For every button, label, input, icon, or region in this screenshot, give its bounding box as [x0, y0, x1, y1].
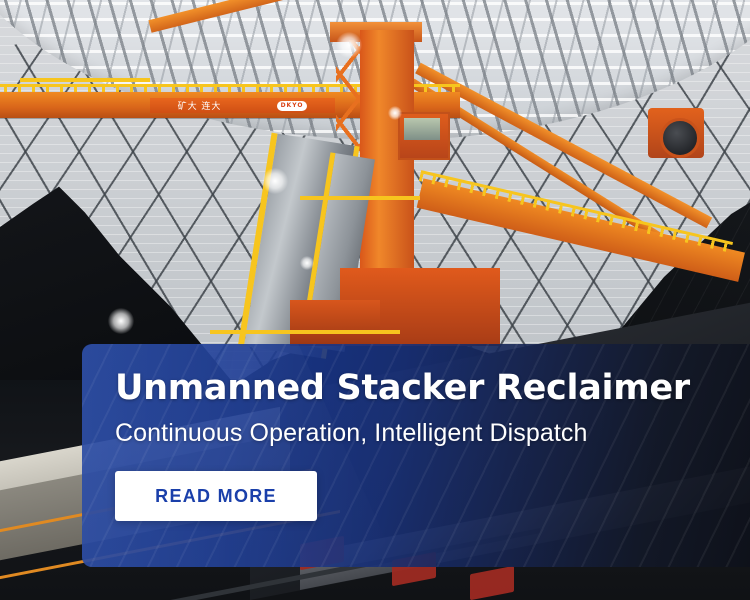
bucket-wheel [660, 118, 700, 158]
boom-marking: 矿大 连大 DKYO [150, 98, 335, 113]
overlay-panel: Unmanned Stacker Reclaimer Continuous Op… [82, 344, 750, 567]
operator-cab-window [404, 118, 440, 140]
work-light-4 [388, 106, 402, 120]
read-more-button[interactable]: READ MORE [115, 471, 317, 521]
platform-railing-3 [210, 330, 400, 334]
banner-subtitle: Continuous Operation, Intelligent Dispat… [115, 410, 750, 449]
overlay-content: Unmanned Stacker Reclaimer Continuous Op… [82, 344, 750, 521]
work-light-5 [300, 256, 314, 270]
work-light-1 [336, 32, 362, 58]
banner-title: Unmanned Stacker Reclaimer [115, 344, 750, 410]
platform-railing-2 [300, 196, 420, 200]
platform-railing-1 [20, 78, 150, 82]
work-light-2 [262, 168, 288, 194]
hero-banner: 矿大 连大 DKYO Unmanned Stacker Reclaimer C [0, 0, 750, 600]
machine-base-secondary [290, 300, 380, 346]
work-light-3 [108, 308, 134, 334]
rail-car-3 [470, 566, 514, 600]
boom-marking-text: 矿大 连大 [178, 99, 222, 112]
boom-logo: DKYO [277, 101, 308, 111]
